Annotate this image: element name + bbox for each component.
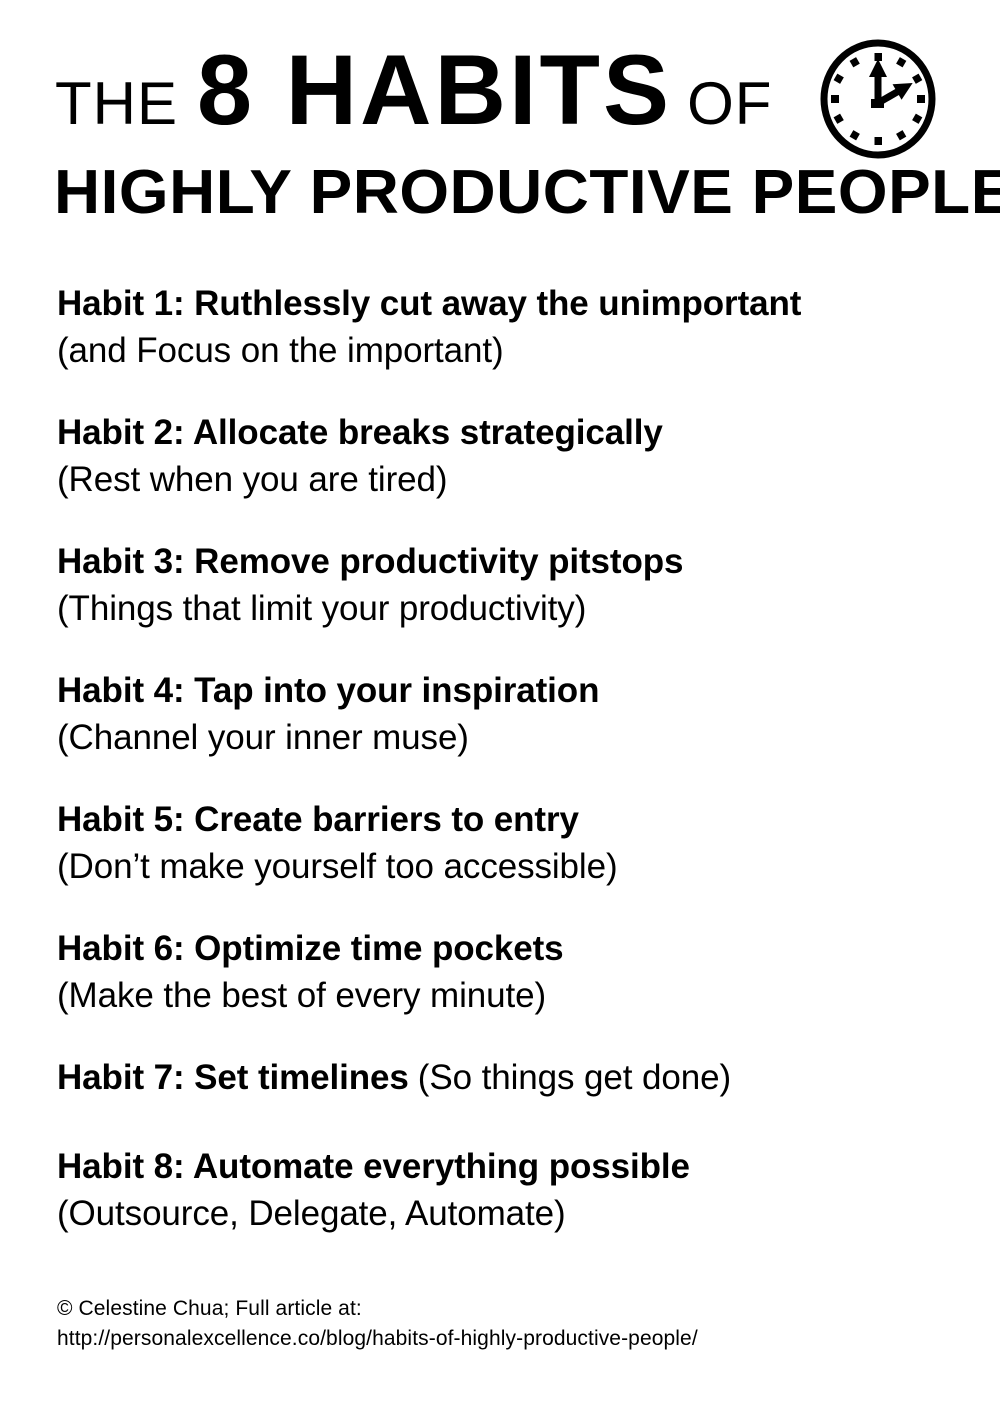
title-word-8-habits: 8 HABITS (197, 40, 672, 139)
habit-subtitle: (Make the best of every minute) (57, 972, 957, 1019)
habit-subtitle: (Things that limit your productivity) (57, 585, 957, 632)
title-line-1: THE 8 HABITS OF (55, 40, 772, 150)
footer-url[interactable]: http://personalexcellence.co/blog/habits… (57, 1324, 937, 1354)
habit-item-1: Habit 1: Ruthlessly cut away the unimpor… (57, 280, 957, 374)
habit-title: Habit 4: Tap into your inspiration (57, 667, 957, 714)
habit-subtitle: (Channel your inner muse) (57, 714, 957, 761)
habit-title: Habit 3: Remove productivity pitstops (57, 538, 957, 585)
habit-title: Habit 7: Set timelines (57, 1058, 409, 1097)
habit-item-5: Habit 5: Create barriers to entry (Don’t… (57, 796, 957, 890)
title-word-of: OF (687, 74, 772, 134)
habit-item-8: Habit 8: Automate everything possible (O… (57, 1143, 957, 1237)
habit-subtitle: (Rest when you are tired) (57, 456, 957, 503)
habit-item-6: Habit 6: Optimize time pockets (Make the… (57, 925, 957, 1019)
habits-list: Habit 1: Ruthlessly cut away the unimpor… (57, 280, 957, 1237)
habit-title: Habit 8: Automate everything possible (57, 1143, 957, 1190)
title-word-the: THE (55, 74, 178, 134)
habit-title: Habit 2: Allocate breaks strategically (57, 409, 957, 456)
poster-footer: © Celestine Chua; Full article at: http:… (57, 1294, 937, 1354)
habit-item-7: Habit 7: Set timelines(So things get don… (57, 1054, 957, 1108)
habit-subtitle: (Don’t make yourself too accessible) (57, 843, 957, 890)
habit-title: Habit 6: Optimize time pockets (57, 925, 957, 972)
poster-header: THE 8 HABITS OF HIGHLY PRODUCTIVE PEOPLE (0, 0, 1000, 250)
habit-item-2: Habit 2: Allocate breaks strategically (… (57, 409, 957, 503)
habit-item-3: Habit 3: Remove productivity pitstops (T… (57, 538, 957, 632)
footer-credit: © Celestine Chua; Full article at: (57, 1294, 937, 1324)
habit-title: Habit 1: Ruthlessly cut away the unimpor… (57, 280, 957, 327)
clock-icon (817, 37, 939, 161)
poster-canvas: THE 8 HABITS OF HIGHLY PRODUCTIVE PEOPLE (0, 0, 1000, 1415)
habit-subtitle: (So things get done) (418, 1058, 731, 1097)
habit-subtitle: (Outsource, Delegate, Automate) (57, 1190, 957, 1237)
habit-subtitle: (and Focus on the important) (57, 327, 957, 374)
habit-title: Habit 5: Create barriers to entry (57, 796, 957, 843)
habit-item-4: Habit 4: Tap into your inspiration (Chan… (57, 667, 957, 761)
title-line-2: HIGHLY PRODUCTIVE PEOPLE (54, 162, 1000, 224)
